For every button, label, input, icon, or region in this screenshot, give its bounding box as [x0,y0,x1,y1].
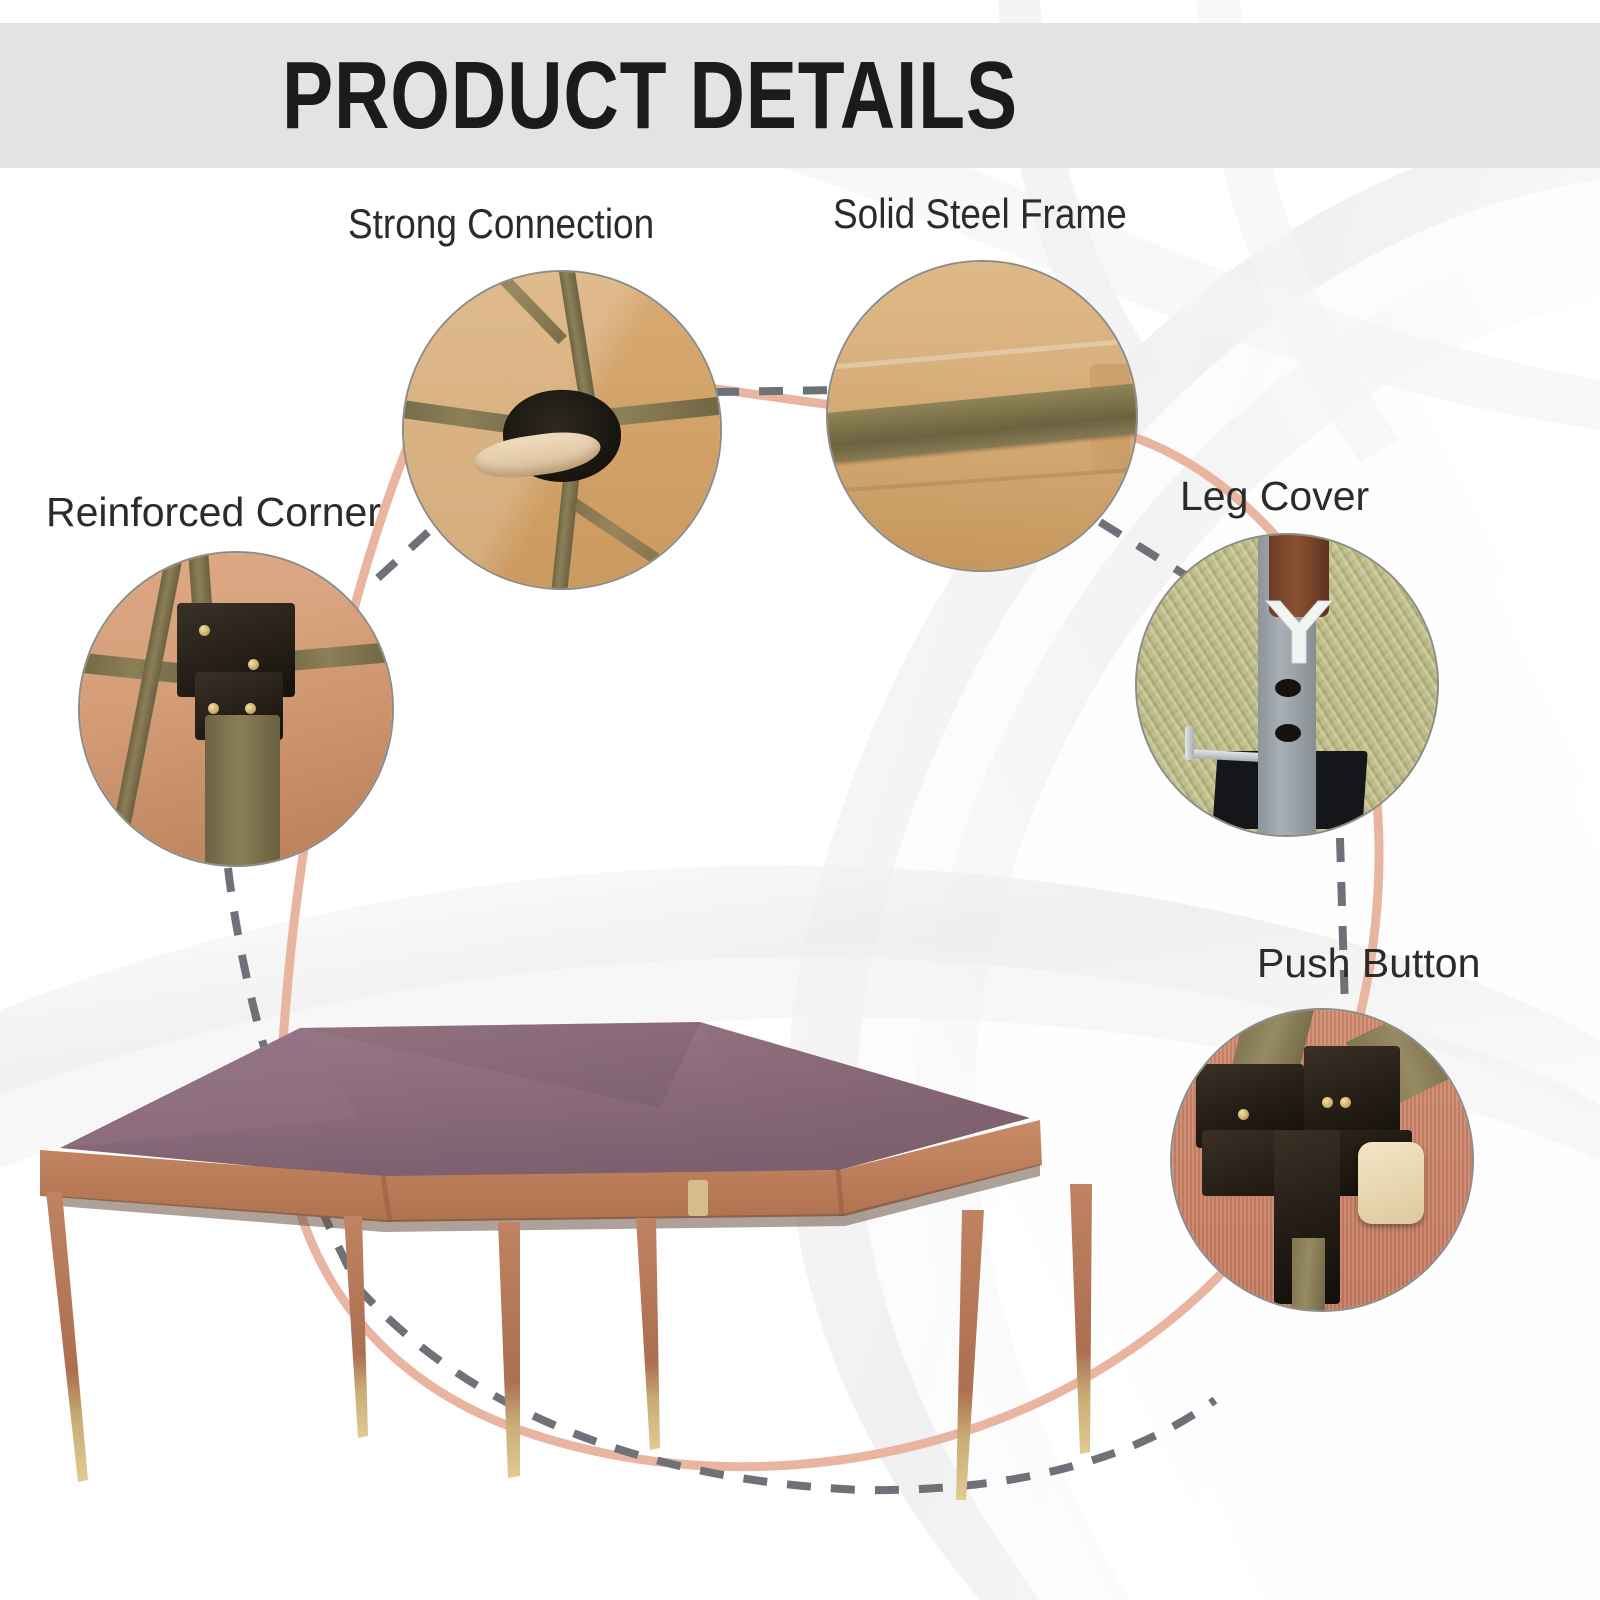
detail-circle-strong-connection [404,272,720,588]
leg-4 [636,1218,660,1450]
detail-circle-solid-steel-frame [828,262,1136,570]
infographic-canvas: PRODUCT DETAILS [0,0,1600,1600]
push-button-cap[interactable] [1358,1142,1424,1224]
canopy-roof [60,1022,1030,1178]
callout-label-strong-connection: Strong Connection [348,203,654,245]
gazebo-product-image [0,1000,1200,1560]
page-title: PRODUCT DETAILS [282,48,1018,144]
detail-circle-push-button [1172,1010,1472,1310]
leg-6 [1070,1184,1092,1454]
y-clip [1262,597,1336,667]
detail-circle-leg-cover [1137,535,1437,835]
callout-label-leg-cover: Leg Cover [1180,476,1369,517]
leg-2 [344,1216,368,1438]
leg-1 [46,1192,88,1482]
callout-label-solid-steel-frame: Solid Steel Frame [833,193,1127,235]
header-banner: PRODUCT DETAILS [0,23,1600,168]
detail-circle-reinforced-corner [80,553,392,865]
callout-label-push-button: Push Button [1257,943,1480,984]
leg-5 [956,1210,984,1500]
velcro-tab [688,1180,708,1216]
leg-3 [498,1222,520,1478]
connector-strong-to-steel [715,390,838,392]
callout-label-reinforced-corner: Reinforced Corner [46,492,381,533]
